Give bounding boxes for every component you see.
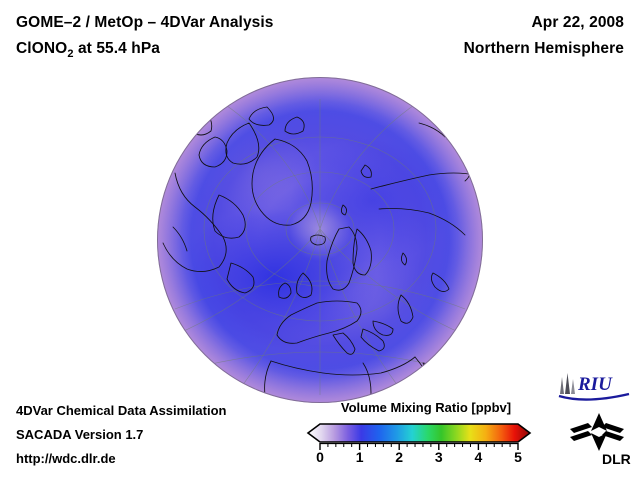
colorbar-tick-label: 2 <box>395 449 403 465</box>
riu-tower-icon <box>560 373 575 394</box>
date-label: Apr 22, 2008 <box>531 14 624 32</box>
footer-line-url[interactable]: http://wdc.dlr.de <box>16 451 116 466</box>
graticule-meridians <box>165 99 475 395</box>
globe-overlay <box>157 77 483 403</box>
region-label: Northern Hemisphere <box>464 40 624 58</box>
globe-map <box>157 77 483 403</box>
colorbar-tick-label: 5 <box>514 449 522 465</box>
footer-line-version: SACADA Version 1.7 <box>16 427 143 442</box>
footer-line-assimilation: 4DVar Chemical Data Assimilation <box>16 403 227 418</box>
riu-logo: RIU <box>556 370 632 404</box>
coastlines <box>163 105 475 403</box>
colorbar-tick-label: 0 <box>316 449 324 465</box>
colorbar-title: Volume Mixing Ratio [ppbv] <box>318 400 534 415</box>
species-name: ClONO <box>16 40 67 57</box>
colorbar-tick-labels: 012345 <box>305 449 533 469</box>
species-level: at 55.4 hPa <box>74 40 161 57</box>
colorbar-tick-label: 3 <box>435 449 443 465</box>
page-title: GOME–2 / MetOp – 4DVar Analysis <box>16 14 274 32</box>
riu-wordmark: RIU <box>577 374 613 395</box>
colorbar-tick-label: 4 <box>474 449 482 465</box>
colorbar-tick-label: 1 <box>356 449 364 465</box>
colorbar-gradient <box>308 424 530 442</box>
dlr-wordmark: DLR <box>602 451 631 467</box>
species-subtitle: ClONO2 at 55.4 hPa <box>16 40 160 60</box>
dlr-logo: DLR <box>566 411 632 467</box>
dlr-mark-icon <box>570 413 624 451</box>
